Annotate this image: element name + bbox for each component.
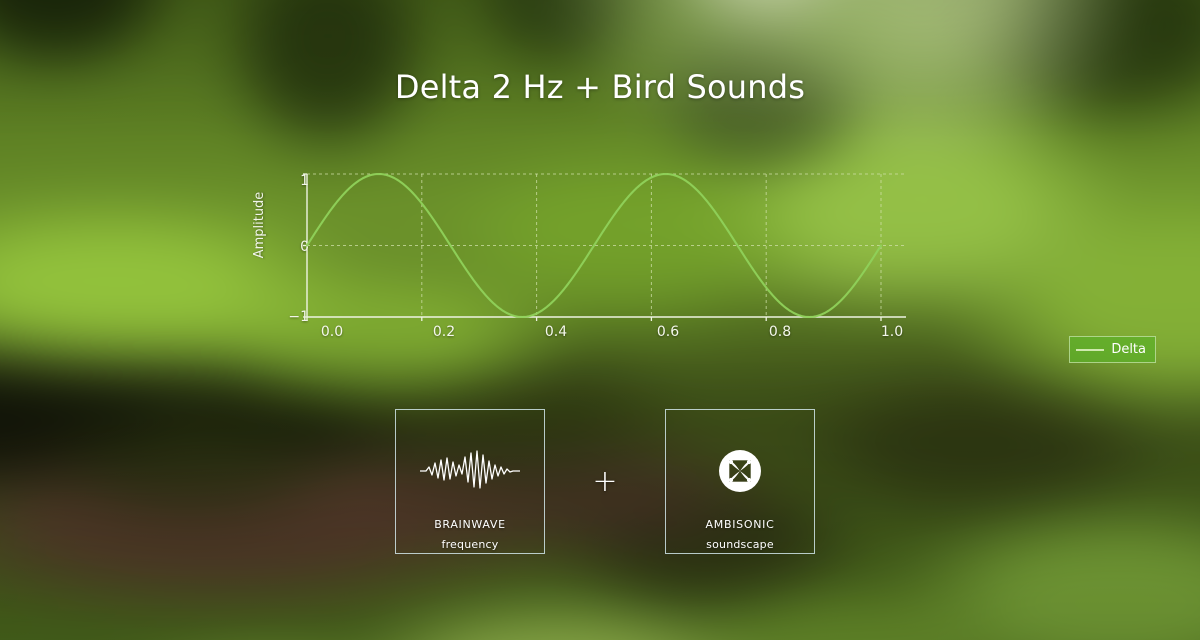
legend-label-delta: Delta bbox=[1111, 343, 1146, 356]
page-title: Delta 2 Hz + Bird Sounds bbox=[0, 68, 1200, 106]
card-brainwave-subtitle: frequency bbox=[442, 538, 499, 551]
ambisonic-icon bbox=[717, 448, 763, 494]
plus-separator: + bbox=[545, 467, 665, 497]
waveform-icon bbox=[420, 448, 520, 494]
sine-wave-chart: Amplitude 1 0 −1 0.0 0.2 0.4 0.6 0.8 1.0… bbox=[244, 160, 914, 350]
chart-legend[interactable]: Delta bbox=[1069, 336, 1156, 363]
card-ambisonic-title: AMBISONIC bbox=[706, 518, 775, 531]
legend-line-sample-icon bbox=[1076, 349, 1104, 351]
card-ambisonic-subtitle: soundscape bbox=[706, 538, 774, 551]
card-brainwave-title: BRAINWAVE bbox=[434, 518, 506, 531]
plot-area bbox=[244, 160, 914, 350]
y-gridlines bbox=[307, 174, 906, 317]
cards-row: BRAINWAVE frequency + bbox=[395, 409, 815, 554]
card-ambisonic[interactable]: AMBISONIC soundscape bbox=[665, 409, 815, 554]
card-brainwave[interactable]: BRAINWAVE frequency bbox=[395, 409, 545, 554]
